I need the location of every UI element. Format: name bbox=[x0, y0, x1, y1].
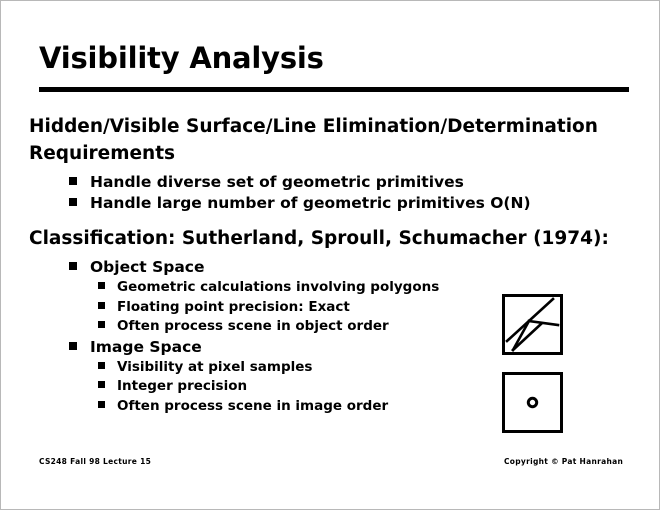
list-item: Visibility at pixel samples bbox=[98, 358, 660, 378]
list-item: Often process scene in object order bbox=[98, 317, 660, 337]
list-item-label: Geometric calculations involving polygon… bbox=[117, 278, 439, 298]
square-bullet-icon bbox=[98, 401, 105, 408]
heading-classification: Classification: Sutherland, Sproull, Sch… bbox=[29, 225, 660, 252]
list-item-label: Often process scene in image order bbox=[117, 397, 388, 417]
list-item-label: Object Space bbox=[90, 257, 205, 278]
list-item-label: Handle diverse set of geometric primitiv… bbox=[90, 172, 464, 193]
square-bullet-icon bbox=[69, 198, 77, 206]
heading-hidden-visible-surface: Hidden/Visible Surface/Line Elimination/… bbox=[29, 113, 660, 140]
square-bullet-icon bbox=[69, 262, 77, 270]
list-item: Geometric calculations involving polygon… bbox=[98, 278, 660, 298]
footer-copyright: Copyright © Pat Hanrahan bbox=[504, 457, 623, 466]
slide: Visibility Analysis Hidden/Visible Surfa… bbox=[0, 0, 660, 510]
square-bullet-icon bbox=[98, 381, 105, 388]
list-item-label: Image Space bbox=[90, 337, 202, 358]
square-bullet-icon bbox=[69, 342, 77, 350]
list-item-label: Floating point precision: Exact bbox=[117, 298, 350, 318]
square-bullet-icon bbox=[98, 362, 105, 369]
list-item: Floating point precision: Exact bbox=[98, 298, 660, 318]
list-item-object-space: Object Space bbox=[69, 257, 660, 278]
list-item-label: Visibility at pixel samples bbox=[117, 358, 312, 378]
list-item-label: Often process scene in object order bbox=[117, 317, 389, 337]
list-item: Integer precision bbox=[98, 377, 660, 397]
object-space-diagram bbox=[502, 294, 563, 355]
page-title: Visibility Analysis bbox=[39, 41, 324, 75]
list-item: Often process scene in image order bbox=[98, 397, 660, 417]
footer-course-info: CS248 Fall 98 Lecture 15 bbox=[39, 457, 151, 466]
square-bullet-icon bbox=[69, 177, 77, 185]
list-item-label: Integer precision bbox=[117, 377, 247, 397]
list-item-image-space: Image Space bbox=[69, 337, 660, 358]
list-item-label: Handle large number of geometric primiti… bbox=[90, 193, 531, 214]
title-divider bbox=[39, 87, 629, 92]
square-bullet-icon bbox=[98, 302, 105, 309]
slide-body: Hidden/Visible Surface/Line Elimination/… bbox=[1, 113, 660, 416]
image-space-diagram bbox=[502, 372, 563, 433]
list-item: Handle large number of geometric primiti… bbox=[69, 193, 660, 214]
square-bullet-icon bbox=[98, 282, 105, 289]
heading-requirements: Requirements bbox=[29, 140, 660, 167]
list-item: Handle diverse set of geometric primitiv… bbox=[69, 172, 660, 193]
square-bullet-icon bbox=[98, 321, 105, 328]
